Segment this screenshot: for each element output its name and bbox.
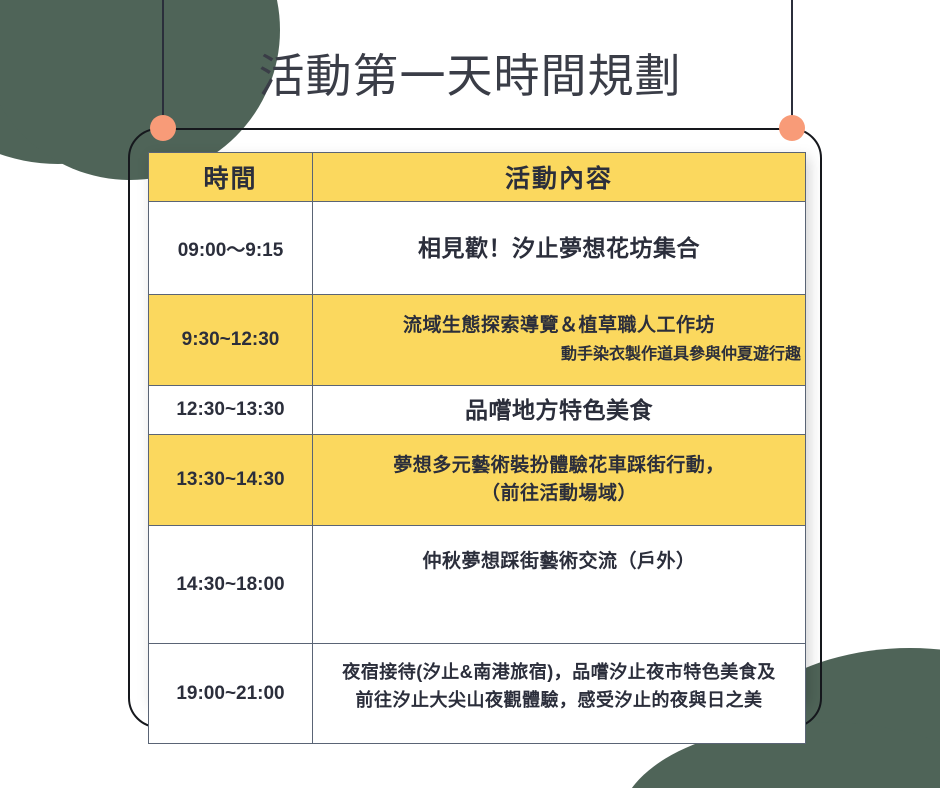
cell-content: 品嚐地方特色美食 xyxy=(313,386,806,435)
chevron-down-icon xyxy=(245,713,265,728)
schedule-table-container: 時間 活動內容 09:00～9:15 相見歡！汐止夢想花坊集合 9:30~12:… xyxy=(148,152,805,744)
orange-dot-right-icon xyxy=(779,115,805,141)
table-header: 時間 活動內容 xyxy=(149,153,806,202)
chevron-marks-group xyxy=(168,714,308,732)
table-body: 09:00～9:15 相見歡！汐止夢想花坊集合 9:30~12:30 流域生態探… xyxy=(149,202,806,744)
column-header-content: 活動內容 xyxy=(313,153,806,202)
table-row: 14:30~18:00 仲秋夢想踩街藝術交流（戶外） xyxy=(149,526,806,644)
cell-time: 9:30~12:30 xyxy=(149,295,313,386)
cell-time: 14:30~18:00 xyxy=(149,526,313,644)
table-header-row: 時間 活動內容 xyxy=(149,153,806,202)
cell-content: 相見歡！汐止夢想花坊集合 xyxy=(313,202,806,295)
schedule-table: 時間 活動內容 09:00～9:15 相見歡！汐止夢想花坊集合 9:30~12:… xyxy=(148,152,806,744)
slide-canvas: 活動第一天時間規劃 時間 活動內容 09:00～9:15 相見歡！汐止夢想 xyxy=(0,0,940,788)
column-header-time: 時間 xyxy=(149,153,313,202)
page-title: 活動第一天時間規劃 xyxy=(0,48,940,104)
table-row: 9:30~12:30 流域生態探索導覽＆植草職人工作坊 動手染衣製作道具參與仲夏… xyxy=(149,295,806,386)
chevron-down-icon xyxy=(205,713,225,728)
cell-content: 流域生態探索導覽＆植草職人工作坊 動手染衣製作道具參與仲夏遊行趣 xyxy=(313,295,806,386)
cell-content: 夢想多元藝術裝扮體驗花車踩街行動， （前往活動場域） xyxy=(313,435,806,526)
cell-time: 12:30~13:30 xyxy=(149,386,313,435)
cell-time: 13:30~14:30 xyxy=(149,435,313,526)
chevron-down-icon xyxy=(165,713,185,728)
cell-content-main: 相見歡！汐止夢想花坊集合 xyxy=(313,232,805,264)
cell-content-main: 品嚐地方特色美食 xyxy=(313,394,805,426)
cell-content-sub: 動手染衣製作道具參與仲夏遊行趣 xyxy=(313,342,805,368)
cell-content-main: 夜宿接待(汐止&南港旅宿)，品嚐汐止夜市特色美食及 前往汐止大尖山夜觀體驗，感受… xyxy=(313,658,805,714)
orange-dot-left-icon xyxy=(150,115,176,141)
cell-content-main: 夢想多元藝術裝扮體驗花車踩街行動， （前往活動場域） xyxy=(313,452,805,508)
cell-content: 仲秋夢想踩街藝術交流（戶外） xyxy=(313,526,806,644)
table-row: 09:00～9:15 相見歡！汐止夢想花坊集合 xyxy=(149,202,806,295)
cell-content: 夜宿接待(汐止&南港旅宿)，品嚐汐止夜市特色美食及 前往汐止大尖山夜觀體驗，感受… xyxy=(313,644,806,744)
cell-content-main: 仲秋夢想踩街藝術交流（戶外） xyxy=(313,548,805,576)
table-row: 12:30~13:30 品嚐地方特色美食 xyxy=(149,386,806,435)
cell-content-main: 流域生態探索導覽＆植草職人工作坊 xyxy=(313,312,805,340)
table-row: 13:30~14:30 夢想多元藝術裝扮體驗花車踩街行動， （前往活動場域） xyxy=(149,435,806,526)
cell-time: 09:00～9:15 xyxy=(149,202,313,295)
